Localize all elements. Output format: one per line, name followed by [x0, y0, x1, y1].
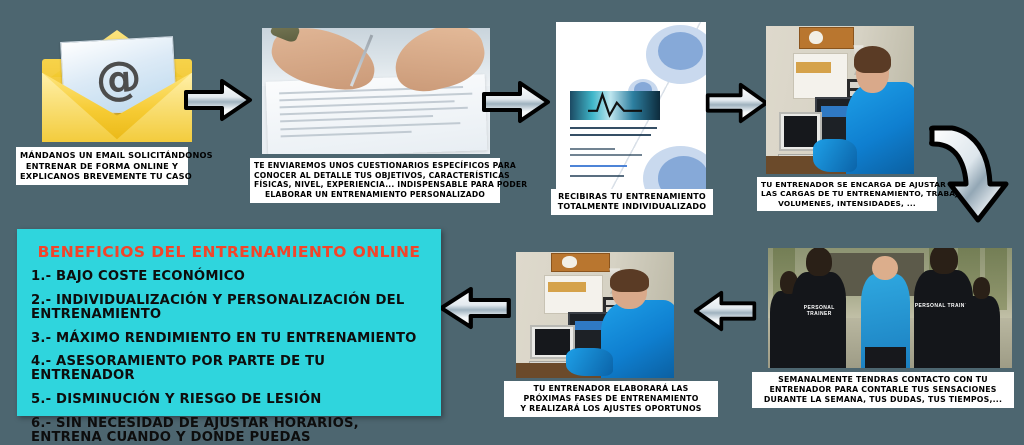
jacket-label: PERSONAL TRAINER [792, 305, 846, 318]
caption-line: EXPLICANOS BREVEMENTE TU CASO [20, 171, 184, 182]
person-hair [854, 46, 891, 74]
caption-line: LAS CARGAS DE TU ENTRENAMIENTO, TRABAJO, [761, 189, 933, 198]
caption-step-6: TU ENTRENADOR ELABORARÁ LAS PRÓXIMAS FAS… [504, 381, 718, 417]
photo-inner [556, 22, 706, 194]
wall-board-2 [548, 282, 586, 292]
questionnaire-paper [265, 75, 486, 154]
arrow-left-icon [692, 288, 758, 334]
benefits-panel: BENEFICIOS DEL ENTRENAMIENTO ONLINE 1.- … [17, 229, 441, 416]
ecg-line-icon [570, 91, 660, 118]
photo-inner [262, 28, 490, 154]
benefit-item: 2.- INDIVIDUALIZACIÓN Y PERSONALIZACIÓN … [31, 294, 427, 322]
caption-step-5: SEMANALMENTE TENDRAS CONTACTO CON TU ENT… [752, 372, 1014, 408]
trainer-at-desk-photo [766, 26, 914, 174]
person-hair [610, 269, 649, 292]
caption-line: SEMANALMENTE TENDRAS CONTACTO CON TU [756, 375, 1010, 385]
person-figure [601, 300, 674, 378]
wall-poster [551, 253, 610, 271]
caption-line: Y REALIZARÁ LOS AJUSTES OPORTUNOS [508, 404, 714, 414]
caption-line: RECIBIRAS TU ENTRENAMIENTO [555, 192, 709, 202]
benefits-title: BENEFICIOS DEL ENTRENAMIENTO ONLINE [31, 243, 427, 261]
caption-step-2: TE ENVIAREMOS UNOS CUESTIONARIOS ESPECÍF… [250, 158, 500, 203]
arrow-right-icon [182, 76, 254, 124]
trainer-head [973, 277, 991, 299]
trainer-figure [963, 296, 1000, 368]
wall-board [544, 275, 603, 315]
coach-shorts [865, 347, 906, 368]
person-arm [566, 348, 613, 376]
caption-line: MÁNDANOS UN EMAIL SOLICITÁNDONOS [20, 150, 184, 161]
coach-head [872, 256, 897, 280]
caption-line: PRÓXIMAS FASES DE ENTRENAMIENTO [508, 394, 714, 404]
caption-line: DURANTE LA SEMANA, TUS DUDAS, TUS TIEMPO… [756, 395, 1010, 405]
arrow-right-icon [704, 80, 770, 126]
caption-line: ENTRENADOR PARA CONTARLE TUS SENSACIONES [756, 385, 1010, 395]
document-text-line [570, 154, 642, 156]
caption-step-1: MÁNDANOS UN EMAIL SOLICITÁNDONOS ENTRENA… [16, 147, 188, 185]
trainer-at-desk-photo-2 [516, 252, 674, 378]
trainer-figure: PERSONAL TRAINER [792, 272, 846, 368]
photo-inner [516, 252, 674, 378]
document-logo [570, 91, 660, 120]
document-text-line [570, 175, 624, 177]
benefits-list: 1.- BAJO COSTE ECONÓMICO 2.- INDIVIDUALI… [31, 270, 427, 445]
document-text-line [570, 127, 657, 129]
sleeve [270, 28, 302, 43]
wall-board [793, 53, 848, 99]
at-symbol-icon: @ [94, 54, 142, 102]
training-plan-document-photo [556, 22, 706, 194]
caption-line: TE ENVIAREMOS UNOS CUESTIONARIOS ESPECÍF… [254, 161, 496, 171]
caption-line: VOLUMENES, INTENSIDADES, ... [761, 199, 933, 208]
photo-inner [766, 26, 914, 174]
document-text-line [570, 148, 615, 150]
wall-poster [799, 27, 854, 48]
arrow-curved-down-icon [922, 122, 1022, 228]
trainer-head [930, 248, 958, 274]
trainer-head [806, 248, 832, 276]
benefit-item: 6.- SIN NECESIDAD DE AJUSTAR HORARIOS, E… [31, 417, 427, 445]
infographic-canvas: @ MÁNDANOS UN EMAIL SOLICITÁNDONOS ENTRE… [0, 0, 1024, 429]
hands-filling-questionnaire-photo [262, 28, 490, 154]
benefit-item: 1.- BAJO COSTE ECONÓMICO [31, 270, 427, 284]
caption-line: TU ENTRENADOR SE ENCARGA DE AJUSTAR [761, 180, 933, 189]
person-figure [846, 82, 914, 174]
caption-line: FÍSICAS, NIVEL, EXPERIENCIA... INDISPENS… [254, 180, 496, 190]
document-text-line [570, 134, 651, 136]
document-link-line [570, 165, 627, 167]
caption-line: ELABORAR UN ENTRENAMIENTO PERSONALIZADO [254, 190, 496, 200]
arrow-right-icon [480, 78, 552, 126]
personal-trainers-group-photo: PERSONAL TRAINER PERSONAL TRAINER [768, 248, 1012, 368]
caption-line: TOTALMENTE INDIVIDUALIZADO [555, 202, 709, 212]
caption-step-3: RECIBIRAS TU ENTRENAMIENTO TOTALMENTE IN… [551, 189, 713, 215]
caption-line: ENTRENAR DE FORMA ONLINE Y [20, 161, 184, 172]
decor-circle [658, 32, 703, 70]
benefit-item: 4.- ASESORAMIENTO POR PARTE DE TU ENTREN… [31, 355, 427, 383]
arrow-left-icon [437, 284, 513, 332]
caption-line: CONOCER AL DETALLE TUS OBJETIVOS, CARACT… [254, 171, 496, 181]
caption-step-4: TU ENTRENADOR SE ENCARGA DE AJUSTAR LAS … [757, 177, 937, 211]
caption-line: TU ENTRENADOR ELABORARÁ LAS [508, 384, 714, 394]
person-arm [813, 139, 857, 172]
coach-figure [861, 274, 910, 368]
wall-board-2 [796, 62, 832, 74]
benefit-item: 5.- DISMINUCIÓN Y RIESGO DE LESIÓN [31, 393, 427, 407]
photo-inner: PERSONAL TRAINER PERSONAL TRAINER [768, 248, 1012, 368]
benefit-item: 3.- MÁXIMO RENDIMIENTO EN TU ENTRENAMIEN… [31, 332, 427, 346]
email-envelope-at-icon: @ [42, 30, 192, 142]
